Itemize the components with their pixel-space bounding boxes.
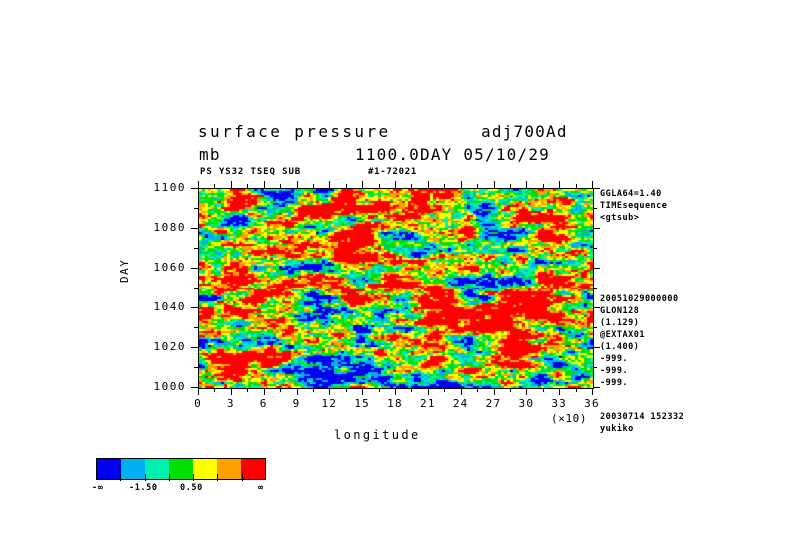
- axis-tick: [198, 181, 199, 188]
- axis-tick: [264, 181, 265, 188]
- y-axis-tick-label: 1080: [140, 221, 186, 234]
- side-annotation-line: TIMEsequence: [600, 201, 667, 211]
- axis-tick: [297, 181, 298, 188]
- axis-tick: [592, 181, 593, 188]
- axis-tick: [461, 388, 462, 395]
- y-axis-tick-label: 1040: [140, 300, 186, 313]
- side-annotation-line: -999.: [600, 366, 628, 376]
- axis-tick: [379, 388, 380, 392]
- axis-tick: [231, 181, 232, 188]
- axis-tick: [593, 228, 600, 229]
- chart-header-id: #1-72021: [368, 167, 417, 177]
- colorbar-separator: [242, 474, 243, 481]
- axis-tick: [194, 367, 198, 368]
- axis-tick: [494, 388, 495, 395]
- axis-tick: [543, 388, 544, 392]
- axis-tick: [191, 228, 198, 229]
- axis-tick: [526, 388, 527, 395]
- axis-tick: [477, 388, 478, 392]
- axis-tick: [362, 181, 363, 188]
- axis-tick: [191, 188, 198, 189]
- axis-tick: [593, 248, 597, 249]
- side-annotation-line: (1.400): [600, 342, 639, 352]
- axis-tick: [510, 388, 511, 392]
- axis-tick: [329, 181, 330, 188]
- axis-tick: [593, 268, 600, 269]
- axis-tick: [559, 181, 560, 188]
- chart-title-dataset: adj700Ad: [481, 122, 568, 141]
- x-axis-tick-label: 6: [247, 397, 281, 410]
- colorbar-separator: [145, 474, 146, 481]
- x-axis-tick-label: 18: [378, 397, 412, 410]
- chart-title-variable: surface pressure: [198, 122, 391, 141]
- axis-tick: [411, 388, 412, 392]
- x-axis-tick-label: 33: [542, 397, 576, 410]
- axis-tick: [444, 388, 445, 392]
- axis-tick: [526, 181, 527, 188]
- x-axis-tick-label: 12: [312, 397, 346, 410]
- colorbar-band: [217, 459, 241, 479]
- x-axis-tick-label: 24: [444, 397, 478, 410]
- colorbar-band: [193, 459, 217, 479]
- x-axis-tick-label: 36: [575, 397, 609, 410]
- axis-tick: [494, 181, 495, 188]
- x-axis-tick-label: 0: [181, 397, 215, 410]
- axis-tick: [379, 184, 380, 188]
- y-axis-tick-label: 1060: [140, 261, 186, 274]
- axis-tick: [191, 268, 198, 269]
- side-annotation-line: -999.: [600, 354, 628, 364]
- axis-tick: [593, 387, 600, 388]
- axis-tick: [576, 184, 577, 188]
- axis-tick: [593, 347, 600, 348]
- axis-tick: [264, 388, 265, 395]
- axis-tick: [346, 388, 347, 392]
- axis-tick: [346, 184, 347, 188]
- axis-tick: [362, 388, 363, 395]
- side-annotation-line: (1.129): [600, 318, 639, 328]
- x-axis-multiplier: (×10): [551, 412, 587, 425]
- axis-tick: [247, 388, 248, 392]
- colorbar-band: [97, 459, 121, 479]
- axis-tick: [592, 388, 593, 395]
- y-axis-tick-label: 1000: [140, 380, 186, 393]
- axis-tick: [593, 208, 597, 209]
- colorbar-label: 0.50: [180, 483, 203, 493]
- side-annotation-line: -999.: [600, 378, 628, 388]
- colorbar-separator: [193, 474, 194, 481]
- y-axis-tick-label: 1020: [140, 340, 186, 353]
- x-axis-tick-label: 9: [280, 397, 314, 410]
- colorbar-label: -1.50: [129, 483, 158, 493]
- axis-tick: [194, 248, 198, 249]
- x-axis-tick-label: 3: [214, 397, 248, 410]
- y-axis-tick-label: 1100: [140, 181, 186, 194]
- axis-tick: [411, 184, 412, 188]
- x-axis-tick-label: 30: [509, 397, 543, 410]
- axis-tick: [313, 388, 314, 392]
- heatmap-canvas: [199, 189, 593, 388]
- colorbar-separator: [169, 474, 170, 481]
- x-axis-title: longitude: [334, 428, 421, 442]
- axis-tick: [593, 327, 597, 328]
- axis-tick: [280, 184, 281, 188]
- axis-tick: [428, 388, 429, 395]
- side-annotation-line: <gtsub>: [600, 213, 639, 223]
- chart-header-tags: PS YS32 TSEQ SUB: [200, 167, 301, 177]
- colorbar-band: [145, 459, 169, 479]
- x-axis-tick-label: 15: [345, 397, 379, 410]
- axis-tick: [477, 184, 478, 188]
- colorbar-band: [169, 459, 193, 479]
- axis-tick: [593, 367, 597, 368]
- axis-tick: [559, 388, 560, 395]
- side-annotation-line: 20030714 152332: [600, 412, 684, 422]
- side-annotation-line: yukiko: [600, 424, 634, 434]
- axis-tick: [214, 388, 215, 392]
- axis-tick: [329, 388, 330, 395]
- axis-tick: [231, 388, 232, 395]
- axis-tick: [191, 307, 198, 308]
- axis-tick: [247, 184, 248, 188]
- chart-time-label: 1100.0DAY 05/10/29: [355, 145, 550, 164]
- axis-tick: [395, 388, 396, 395]
- axis-tick: [461, 181, 462, 188]
- axis-tick: [194, 288, 198, 289]
- colorbar-separator: [217, 474, 218, 481]
- colorbar-separator: [120, 474, 121, 481]
- axis-tick: [194, 327, 198, 328]
- colorbar-band: [121, 459, 145, 479]
- y-axis-title: DAY: [118, 259, 131, 283]
- axis-tick: [313, 184, 314, 188]
- x-axis-tick-label: 21: [411, 397, 445, 410]
- axis-tick: [194, 208, 198, 209]
- heatmap-plot-area: [198, 188, 594, 389]
- side-annotation-line: GLON128: [600, 306, 639, 316]
- colorbar: [96, 458, 266, 480]
- colorbar-band: [241, 459, 265, 479]
- axis-tick: [543, 184, 544, 188]
- x-axis-tick-label: 27: [477, 397, 511, 410]
- axis-tick: [593, 288, 597, 289]
- side-annotation-line: 20051029000000: [600, 294, 679, 304]
- axis-tick: [395, 181, 396, 188]
- axis-tick: [576, 388, 577, 392]
- axis-tick: [297, 388, 298, 395]
- axis-tick: [191, 387, 198, 388]
- axis-tick: [214, 184, 215, 188]
- axis-tick: [510, 184, 511, 188]
- axis-tick: [444, 184, 445, 188]
- colorbar-label: ∞: [258, 483, 264, 493]
- side-annotation-line: GGLA64=1.40: [600, 189, 662, 199]
- axis-tick: [593, 307, 600, 308]
- side-annotation-line: @EXTAX01: [600, 330, 645, 340]
- axis-tick: [428, 181, 429, 188]
- axis-tick: [280, 388, 281, 392]
- axis-tick: [191, 347, 198, 348]
- colorbar-label: -∞: [92, 483, 103, 493]
- axis-tick: [593, 188, 600, 189]
- chart-unit-label: mb: [199, 145, 221, 164]
- axis-tick: [198, 388, 199, 395]
